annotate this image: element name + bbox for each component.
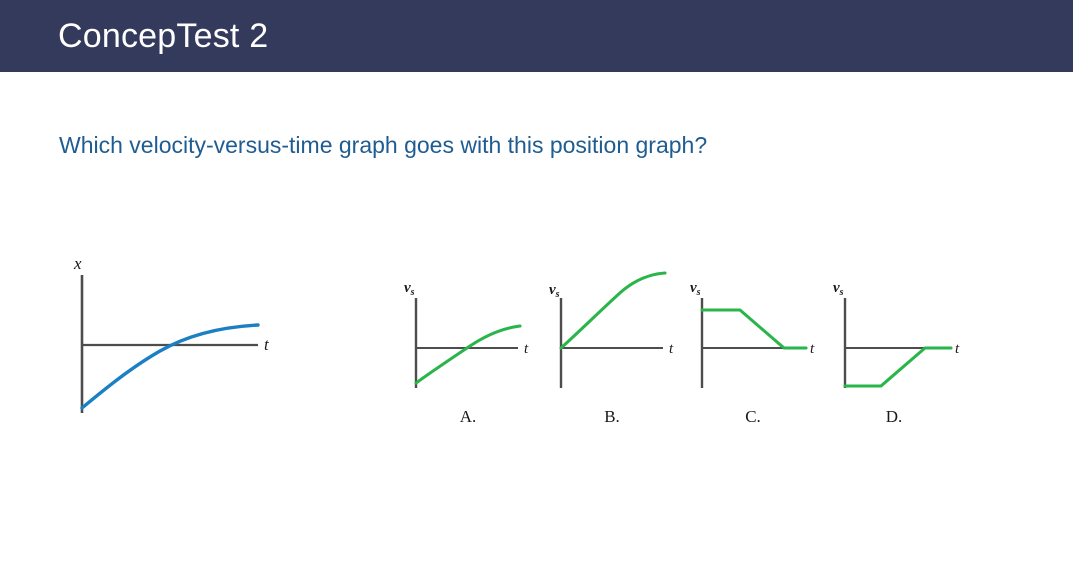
option-d-curve [845,348,951,386]
position-graph: x t [60,255,290,425]
option-b-x-label: t [669,341,674,357]
option-d-x-label: t [955,341,960,357]
option-c-letter[interactable]: C. [733,407,773,427]
option-c-y-label: vs [690,280,701,298]
slide-canvas: ConcepTest 2 Which velocity-versus-time … [0,0,1073,577]
page-title: ConcepTest 2 [58,16,268,56]
option-b-curve [561,273,665,348]
title-bar: ConcepTest 2 [0,0,1073,72]
option-c-graph[interactable]: vs t [688,278,823,398]
option-a-curve [416,326,520,383]
option-d-y-label: vs [833,280,844,298]
option-b-graph[interactable]: vs t [543,262,678,398]
position-graph-y-label: x [73,254,82,273]
option-d-graph[interactable]: vs t [831,278,971,398]
option-a-graph[interactable]: vs t [398,278,533,398]
option-b-y-label: vs [549,282,560,300]
option-a-x-label: t [524,341,529,357]
option-a-y-label: vs [404,280,415,298]
option-d-letter[interactable]: D. [874,407,914,427]
question-prompt: Which velocity-versus-time graph goes wi… [59,130,707,160]
option-c-x-label: t [810,341,815,357]
option-b-letter[interactable]: B. [592,407,632,427]
option-c-curve [702,310,806,348]
option-a-letter[interactable]: A. [448,407,488,427]
position-graph-x-label: t [264,335,270,354]
position-curve [82,325,258,408]
